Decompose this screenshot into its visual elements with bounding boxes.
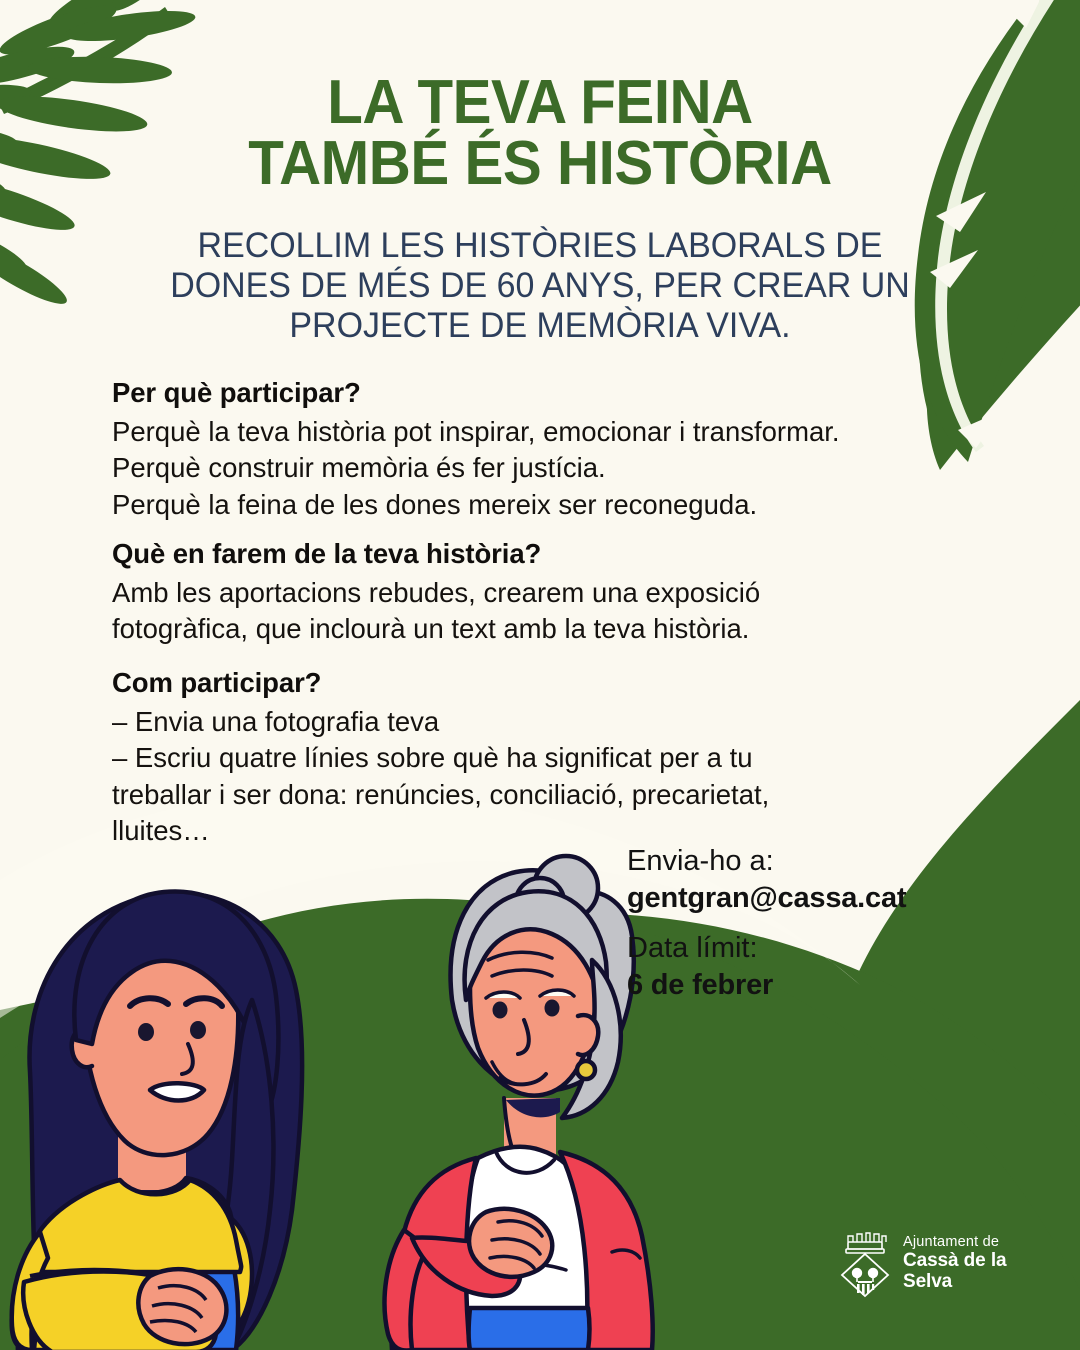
section-2-heading: Què en farem de la teva història? (112, 536, 1012, 573)
section-3-line-3: treballar i ser dona: renúncies, concili… (112, 777, 1012, 814)
poster-headline: LA TEVA FEINA TAMBÉ ÉS HISTÒRIA (32, 72, 1047, 195)
section-1-heading: Per què participar? (112, 375, 1012, 412)
deadline-label: Data límit: (627, 930, 773, 967)
contact-email-block: Envia-ho a: gentgran@cassa.cat (627, 843, 906, 916)
logo-line-1: Ajuntament de (903, 1235, 1026, 1251)
section-2-line-1: Amb les aportacions rebudes, crearem una… (112, 575, 1012, 612)
subhead-line-3: PROJECTE DE MEMÒRIA VIVA. (152, 306, 928, 346)
contact-email-value[interactable]: gentgran@cassa.cat (627, 880, 906, 917)
subhead-line-1: RECOLLIM LES HISTÒRIES LABORALS DE (152, 226, 928, 266)
headline-line-1: LA TEVA FEINA (70, 72, 1010, 133)
logo-line-2: Cassà de la Selva (903, 1251, 1026, 1293)
section-per-que-participar: Per què participar? Perquè la teva histò… (112, 375, 1012, 523)
cassa-coat-of-arms-icon (836, 1229, 894, 1299)
logo-text: Ajuntament de Cassà de la Selva (903, 1235, 1026, 1293)
headline-line-2: TAMBÉ ÉS HISTÒRIA (70, 133, 1010, 194)
section-3-line-1: – Envia una fotografia teva (112, 704, 1012, 741)
section-1-line-2: Perquè construir memòria és fer justícia… (112, 450, 1012, 487)
section-com-participar: Com participar? – Envia una fotografia t… (112, 665, 1012, 850)
section-que-en-farem: Què en farem de la teva història? Amb le… (112, 536, 1012, 648)
poster-canvas: LA TEVA FEINA TAMBÉ ÉS HISTÒRIA RECOLLIM… (0, 0, 1080, 1350)
contact-deadline-block: Data límit: 6 de febrer (627, 930, 773, 1003)
ajuntament-logo: Ajuntament de Cassà de la Selva (836, 1228, 1026, 1300)
section-1-line-1: Perquè la teva història pot inspirar, em… (112, 414, 1012, 451)
deadline-value: 6 de febrer (627, 967, 773, 1004)
contact-email-label: Envia-ho a: (627, 843, 906, 880)
section-3-heading: Com participar? (112, 665, 1012, 702)
section-2-line-2: fotogràfica, que inclourà un text amb la… (112, 611, 1012, 648)
subhead-line-2: DONES DE MÉS DE 60 ANYS, PER CREAR UN (152, 266, 928, 306)
poster-subhead: RECOLLIM LES HISTÒRIES LABORALS DE DONES… (16, 226, 1064, 346)
section-1-line-3: Perquè la feina de les dones mereix ser … (112, 487, 1012, 524)
section-3-line-2: – Escriu quatre línies sobre què ha sign… (112, 740, 1012, 777)
